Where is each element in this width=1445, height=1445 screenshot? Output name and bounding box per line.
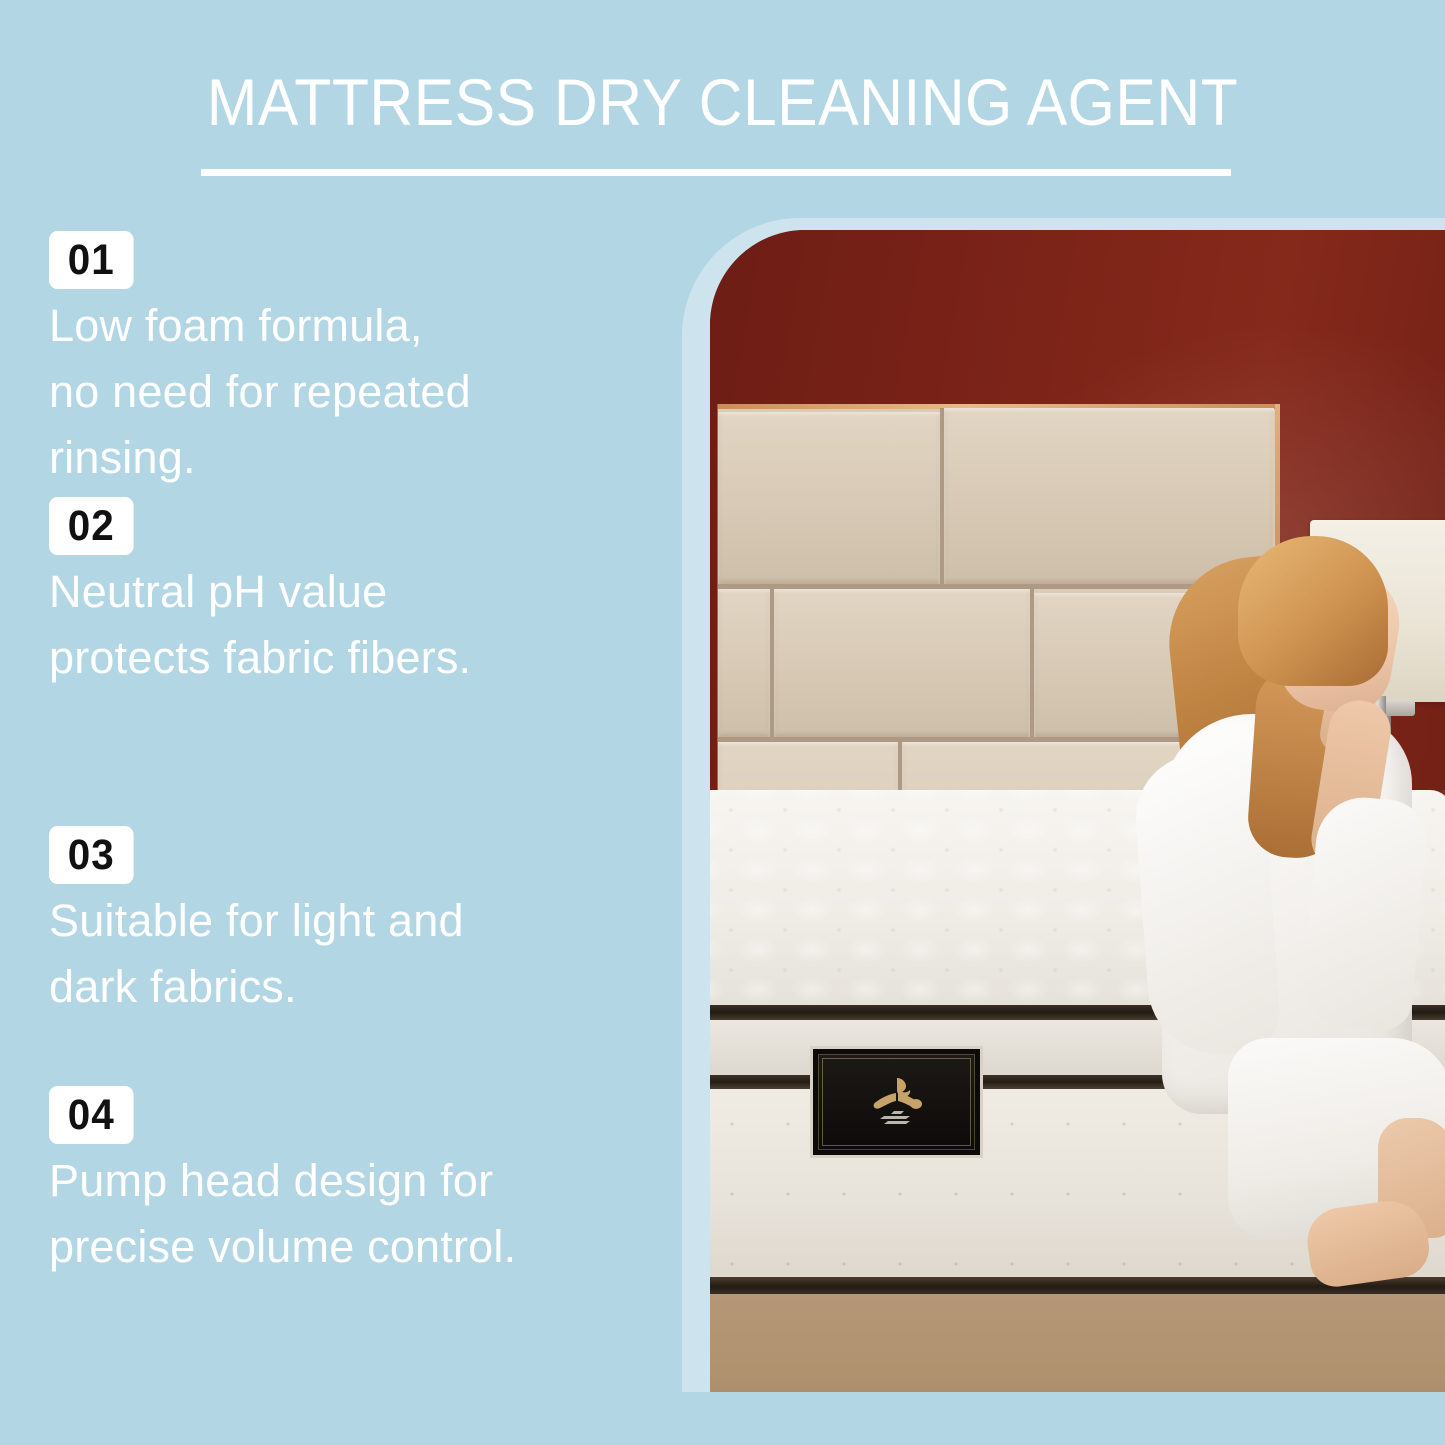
feature-text-01: Low foam formula, no need for repeated r…: [49, 293, 471, 491]
feature-text-02: Neutral pH value protects fabric fibers.: [49, 559, 471, 691]
headboard-seam: [1030, 589, 1034, 737]
feature-item-01: 01 Low foam formula, no need for repeate…: [49, 231, 471, 491]
headboard-panel: [774, 589, 1030, 737]
product-lifestyle-photo: [710, 230, 1445, 1392]
feature-text-04: Pump head design for precise volume cont…: [49, 1148, 516, 1280]
model-woman: [1142, 518, 1445, 1318]
feature-badge-04: 04: [49, 1086, 133, 1144]
headboard-panel: [718, 412, 940, 584]
feature-item-02: 02 Neutral pH value protects fabric fibe…: [49, 497, 471, 691]
feature-text-03: Suitable for light and dark fabrics.: [49, 888, 464, 1020]
brand-emblem-icon: [860, 1072, 934, 1132]
feature-list: 01 Low foam formula, no need for repeate…: [0, 0, 690, 1445]
feature-badge-03: 03: [49, 826, 133, 884]
headboard-seam: [940, 408, 944, 584]
feature-item-04: 04 Pump head design for precise volume c…: [49, 1086, 516, 1280]
feature-item-03: 03 Suitable for light and dark fabrics.: [49, 826, 464, 1020]
infographic-page: MATTRESS DRY CLEANING AGENT 01 Low foam …: [0, 0, 1445, 1445]
headboard-seam: [770, 589, 774, 737]
headboard-panel: [718, 589, 770, 737]
feature-badge-02: 02: [49, 497, 133, 555]
hair-front: [1238, 536, 1388, 686]
feature-badge-01: 01: [49, 231, 133, 289]
robe-sleeve-right: [1300, 794, 1430, 1033]
